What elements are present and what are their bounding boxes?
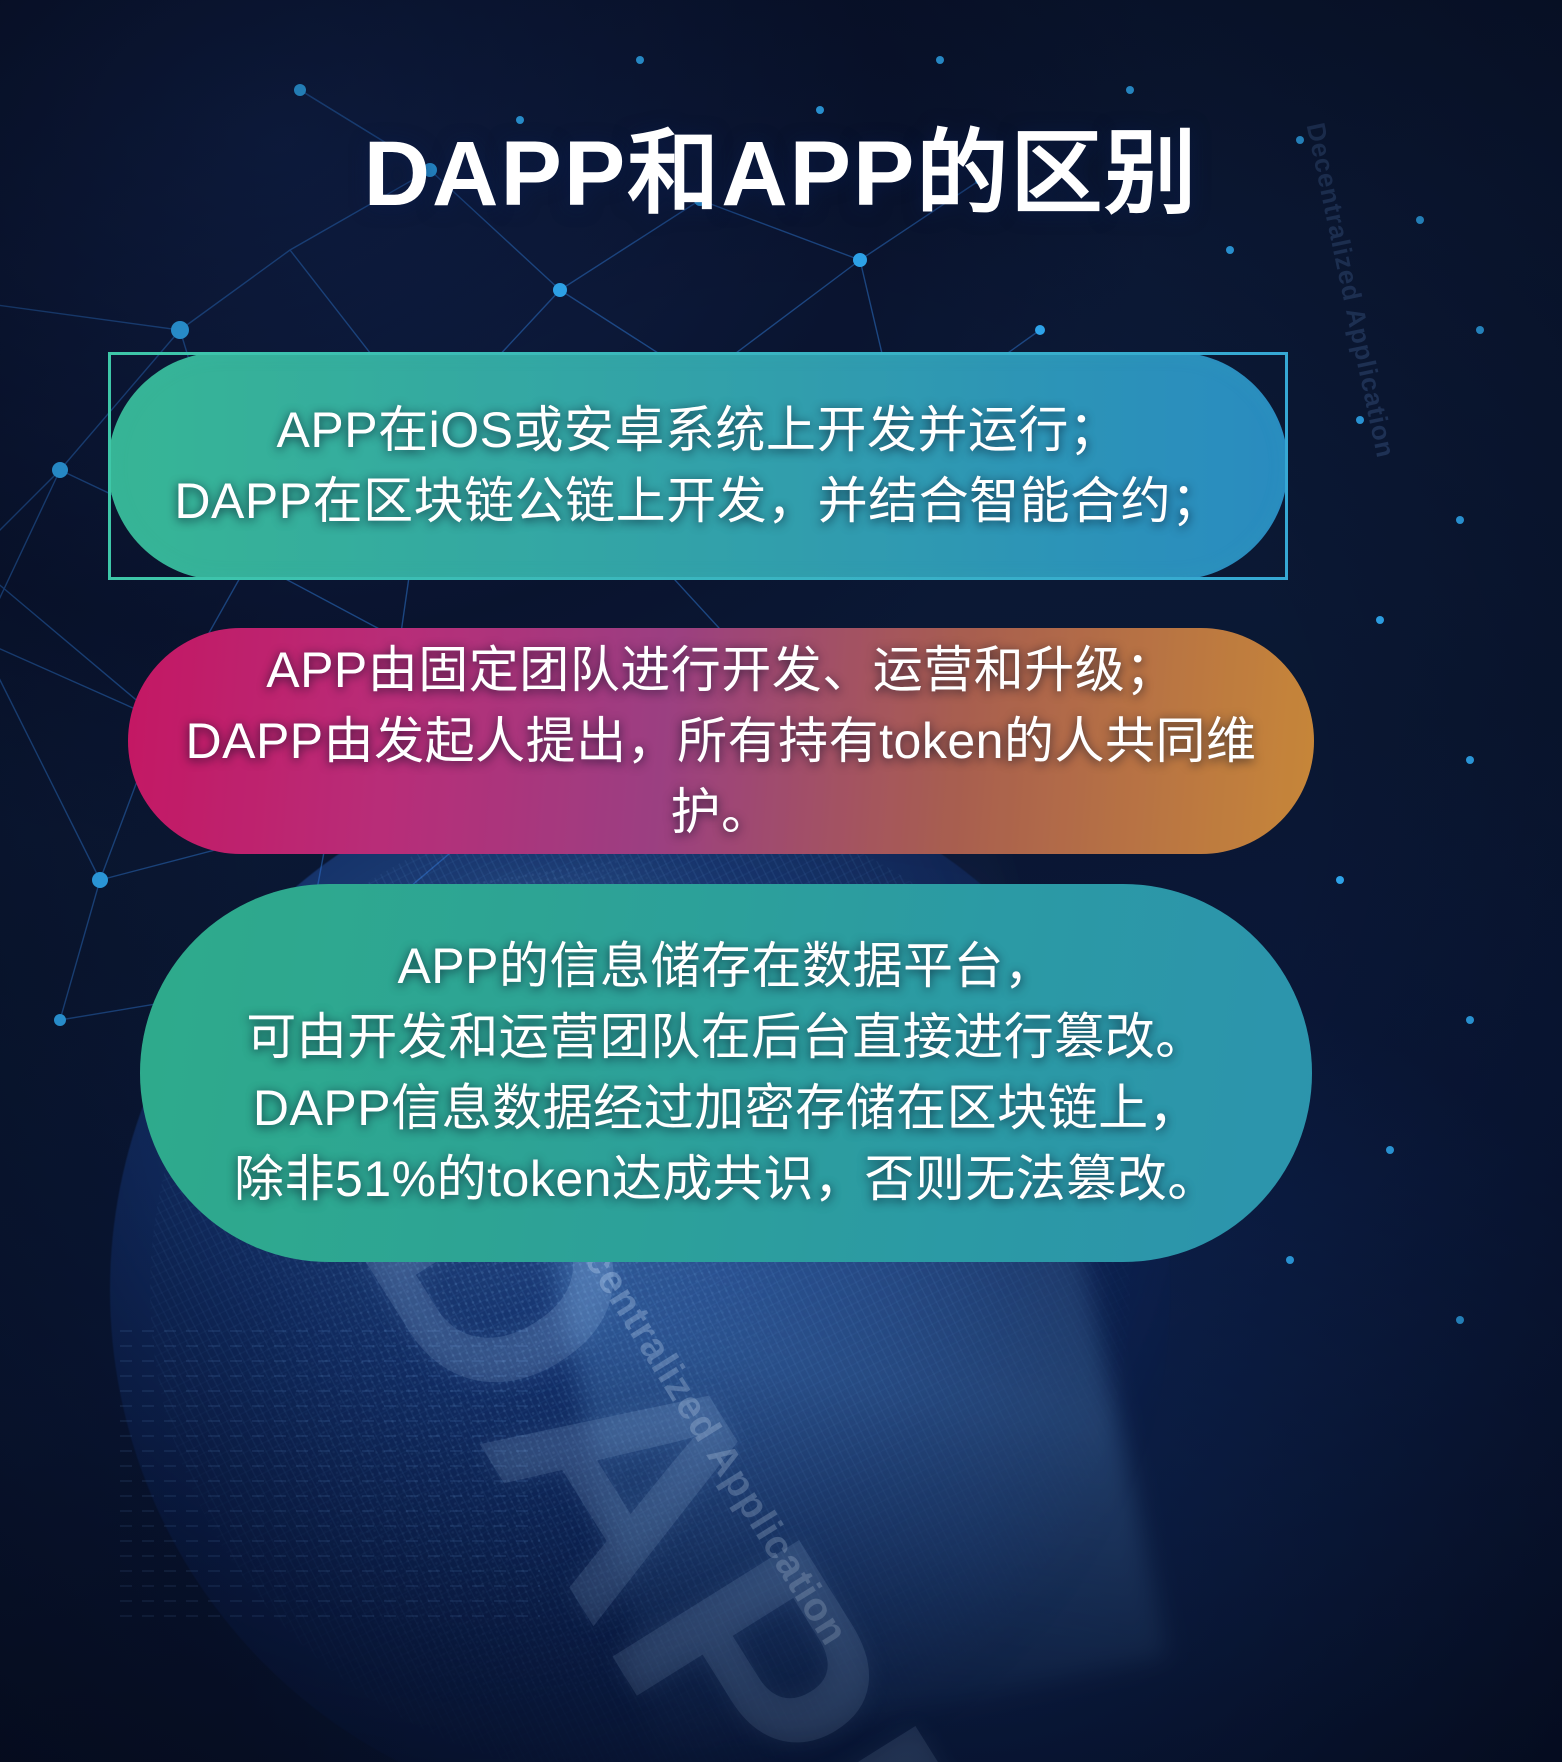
card-3-line-3: DAPP信息数据经过加密存储在区块链上， <box>234 1073 1218 1144</box>
info-card-2: APP由固定团队进行开发、运营和升级； DAPP由发起人提出，所有持有token… <box>128 628 1314 854</box>
infographic-poster: DAPP Decentralized Application Decentral… <box>0 0 1562 1762</box>
info-card-1: APP在iOS或安卓系统上开发并运行； DAPP在区块链公链上开发，并结合智能合… <box>108 352 1288 580</box>
page-title: DAPP和APP的区别 <box>0 126 1562 223</box>
info-card-3: APP的信息储存在数据平台， 可由开发和运营团队在后台直接进行篡改。 DAPP信… <box>140 884 1312 1262</box>
card-3-line-4: 除非51%的token达成共识，否则无法篡改。 <box>234 1144 1218 1215</box>
card-2-line-1: APP由固定团队进行开发、运营和升级； <box>171 635 1271 706</box>
card-1-line-2: DAPP在区块链公链上开发，并结合智能合约； <box>174 466 1221 537</box>
card-3-line-2: 可由开发和运营团队在后台直接进行篡改。 <box>234 1002 1218 1073</box>
card-1-line-1: APP在iOS或安卓系统上开发并运行； <box>174 395 1221 466</box>
card-2-line-2: DAPP由发起人提出，所有持有token的人共同维护。 <box>171 706 1271 848</box>
card-3-line-1: APP的信息储存在数据平台， <box>234 931 1218 1002</box>
